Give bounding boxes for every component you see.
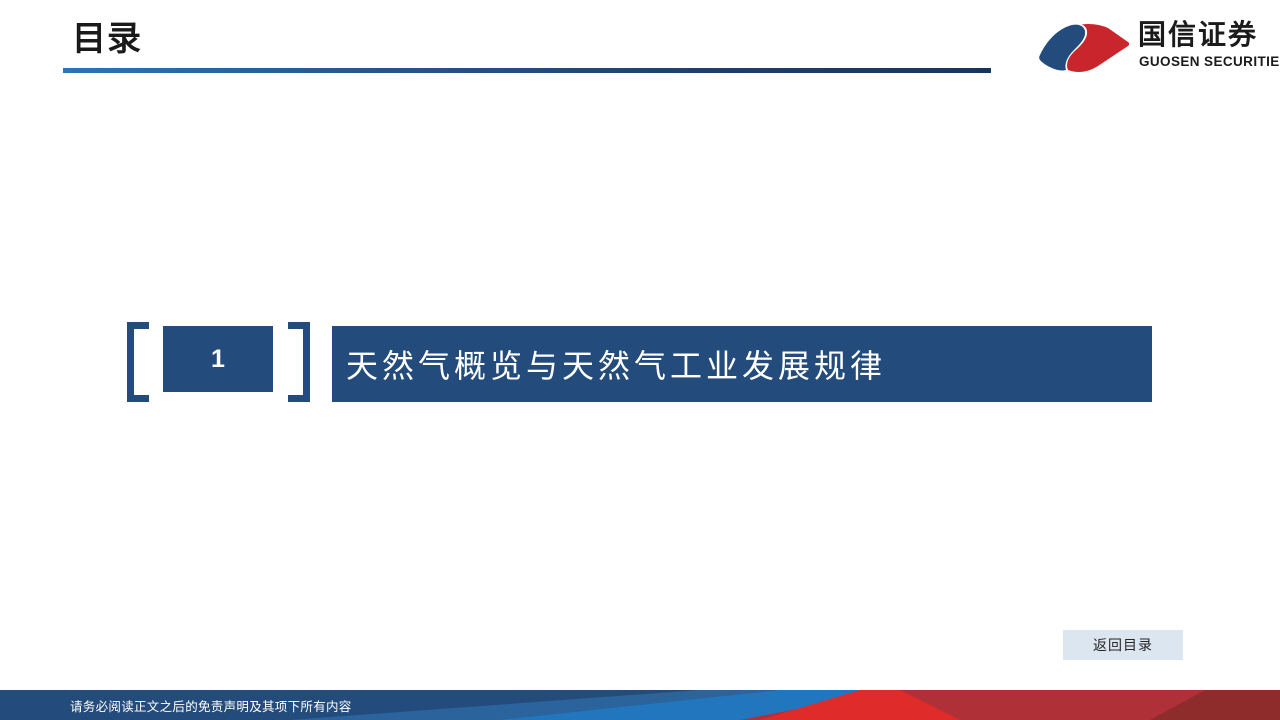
bracket-left-icon xyxy=(127,322,149,402)
return-to-contents-button[interactable]: 返回目录 xyxy=(1063,630,1183,660)
logo-name-cn: 国信证券 xyxy=(1138,19,1258,51)
company-logo: 国信证券 GUOSEN SECURITIES xyxy=(1038,18,1238,78)
logo-name-en: GUOSEN SECURITIES xyxy=(1139,54,1280,69)
slide-root: 目录 国信证券 GUOSEN SECURITIES 1 天然气概览与天然气工业发… xyxy=(0,0,1280,720)
footer-disclaimer: 请务必阅读正文之后的免责声明及其项下所有内容 xyxy=(70,690,352,720)
header-divider xyxy=(63,68,991,73)
bracket-right-icon xyxy=(288,322,310,402)
section-title-bar[interactable]: 天然气概览与天然气工业发展规律 xyxy=(332,326,1152,402)
footer-bar: 请务必阅读正文之后的免责声明及其项下所有内容 xyxy=(0,690,1280,720)
section-title-text: 天然气概览与天然气工业发展规律 xyxy=(332,341,886,387)
page-title: 目录 xyxy=(72,22,142,56)
section-number-badge: 1 xyxy=(163,326,273,392)
guosen-logo-mark xyxy=(1038,22,1130,74)
